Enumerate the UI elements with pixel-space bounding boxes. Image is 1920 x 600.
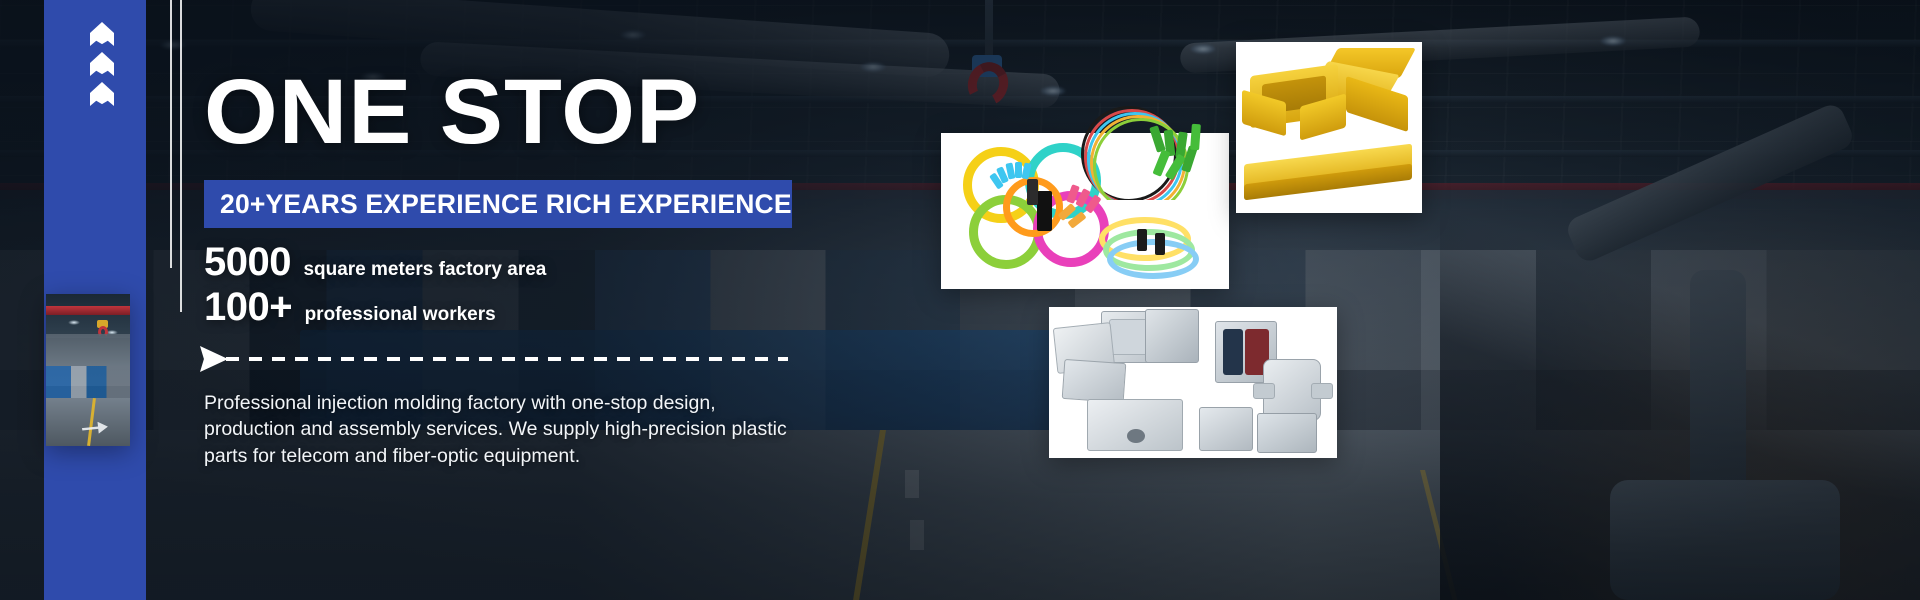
- chevron-up-icon: [90, 52, 114, 76]
- mpo-connector: [1027, 179, 1038, 205]
- splice-box: [1062, 359, 1127, 403]
- factory-thumbnail-image: [46, 294, 130, 446]
- page-title: ONE STOP: [204, 66, 700, 158]
- stat-number: 100+: [204, 285, 292, 329]
- box-inner-dark: [1223, 329, 1243, 375]
- stat-label: square meters factory area: [303, 259, 546, 280]
- chevron-up-icon: [90, 22, 114, 46]
- subtitle-text: 20+YEARS EXPERIENCE RICH EXPERIENCE: [204, 189, 792, 220]
- mpo-connector: [1037, 191, 1052, 231]
- stat-row-workers: 100+ professional workers: [204, 285, 496, 330]
- closure-port: [1253, 383, 1275, 399]
- chevron-up-icon: [90, 82, 114, 106]
- product-image-yellow-cable-tray: [1236, 42, 1422, 213]
- wall-mount-box: [1087, 399, 1183, 451]
- description-paragraph: Professional injection molding factory w…: [204, 390, 812, 469]
- promo-banner: ONE STOP 20+YEARS EXPERIENCE RICH EXPERI…: [0, 0, 1920, 600]
- termination-box-lid: [1145, 309, 1199, 363]
- closure-port: [1311, 383, 1333, 399]
- pigtail-connector: [1137, 229, 1147, 251]
- thumb-red-beam: [46, 306, 130, 315]
- dashed-divider: [200, 344, 788, 372]
- chevron-stack: [90, 22, 120, 112]
- small-termination-box: [1257, 413, 1317, 453]
- rail-vertical-line: [180, 0, 182, 312]
- thumb-lamp: [68, 320, 80, 325]
- arrow-right-icon: [200, 346, 228, 372]
- pastel-fiber-loop: [1107, 239, 1199, 279]
- box-latch: [1127, 429, 1145, 443]
- apc-green-connector: [1190, 124, 1201, 151]
- rail-vertical-line: [170, 0, 172, 268]
- product-image-green-pigtails: [1079, 96, 1235, 200]
- subtitle-bar: 20+YEARS EXPERIENCE RICH EXPERIENCE: [204, 180, 792, 228]
- dashed-line: [226, 357, 788, 361]
- stat-row-factory-area: 5000 square meters factory area: [204, 240, 546, 285]
- stat-label: professional workers: [305, 304, 496, 325]
- pigtail-connector: [1155, 233, 1165, 255]
- product-image-termination-boxes: [1049, 307, 1337, 458]
- small-termination-box: [1199, 407, 1253, 451]
- stat-number: 5000: [204, 240, 291, 284]
